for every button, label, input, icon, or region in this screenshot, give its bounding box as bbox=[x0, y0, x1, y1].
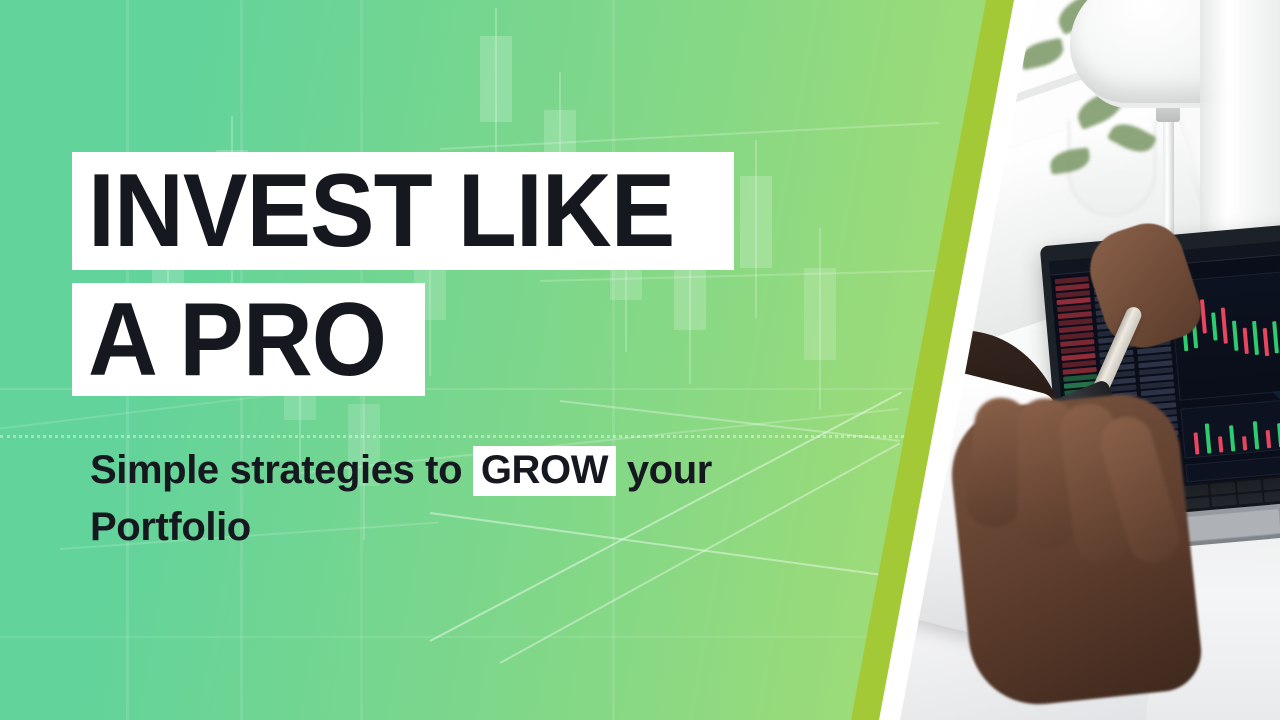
chart-gridline bbox=[612, 0, 615, 720]
chart-candle bbox=[480, 36, 512, 122]
headline-line-2: A PRO bbox=[72, 283, 425, 396]
subtitle-highlight: GROW bbox=[473, 446, 616, 496]
headline-line-2-text: A PRO bbox=[88, 288, 386, 392]
volume-panel bbox=[1180, 393, 1280, 459]
headline-line-1: INVEST LIKE bbox=[72, 152, 734, 270]
subtitle: Simple strategies to GROW your Portfolio bbox=[90, 442, 790, 556]
dotted-reference-line bbox=[0, 435, 940, 438]
subtitle-before: Simple strategies to bbox=[90, 448, 473, 492]
promo-banner: INVEST LIKE A PRO Simple strategies to G… bbox=[0, 0, 1280, 720]
chart-baseline bbox=[0, 636, 900, 638]
hand-holding-phone bbox=[945, 389, 1205, 711]
chart-candle bbox=[740, 176, 772, 268]
headline-line-1-text: INVEST LIKE bbox=[88, 159, 674, 263]
chart-candle bbox=[804, 268, 836, 360]
